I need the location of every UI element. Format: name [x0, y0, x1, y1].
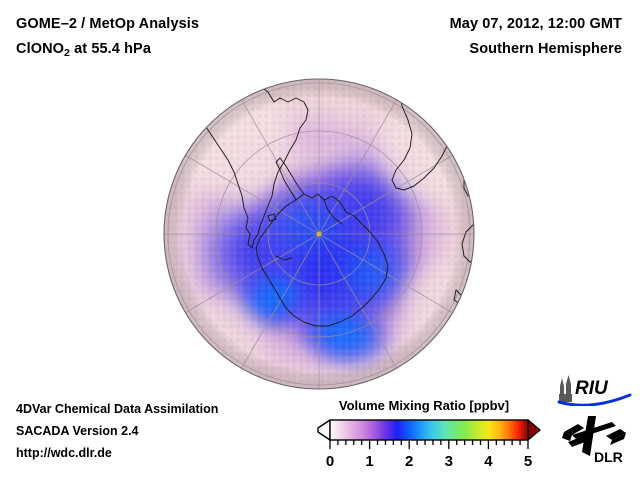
- concentration-field: [160, 79, 486, 392]
- svg-text:4: 4: [484, 453, 493, 470]
- colorbar-extend-high: [528, 420, 540, 440]
- colorbar-tick-labels: 012345: [326, 453, 532, 470]
- species-name: ClONO: [16, 41, 64, 57]
- colorbar-ticks: [330, 440, 528, 449]
- datetime-label: May 07, 2012, 12:00 GMT: [450, 16, 622, 32]
- species-level: at 55.4 hPa: [70, 41, 151, 57]
- footer-url[interactable]: http://wdc.dlr.de: [16, 446, 112, 460]
- dlr-wordmark: DLR: [594, 449, 623, 465]
- svg-text:2: 2: [405, 453, 413, 470]
- south-pole-marker: [317, 232, 322, 237]
- logo-group: RIU DLR: [552, 372, 636, 476]
- species-title: ClONO2 at 55.4 hPa: [16, 41, 151, 59]
- riu-logo[interactable]: RIU: [556, 372, 632, 406]
- globe-map: [156, 76, 486, 392]
- riu-tower-icon: [559, 375, 572, 402]
- svg-text:3: 3: [445, 453, 453, 470]
- colorbar-bar: [330, 420, 528, 440]
- svg-text:1: 1: [365, 453, 373, 470]
- colorbar-extend-low: [318, 420, 330, 440]
- figure-root: GOME–2 / MetOp Analysis ClONO2 at 55.4 h…: [0, 0, 640, 480]
- colorbar: Volume Mixing Ratio [ppbv] 012345: [300, 398, 548, 476]
- svg-text:5: 5: [524, 453, 532, 470]
- riu-wordmark: RIU: [575, 378, 609, 399]
- colorbar-svg: 012345: [300, 418, 548, 476]
- hemisphere-label: Southern Hemisphere: [469, 41, 622, 57]
- dlr-logo[interactable]: DLR: [562, 414, 628, 466]
- colorbar-title: Volume Mixing Ratio [ppbv]: [300, 398, 548, 413]
- orthographic-projection-svg: [156, 76, 486, 392]
- instrument-title: GOME–2 / MetOp Analysis: [16, 16, 199, 32]
- footer-version: SACADA Version 2.4: [16, 424, 139, 438]
- svg-text:0: 0: [326, 453, 334, 470]
- footer-method: 4DVar Chemical Data Assimilation: [16, 402, 218, 416]
